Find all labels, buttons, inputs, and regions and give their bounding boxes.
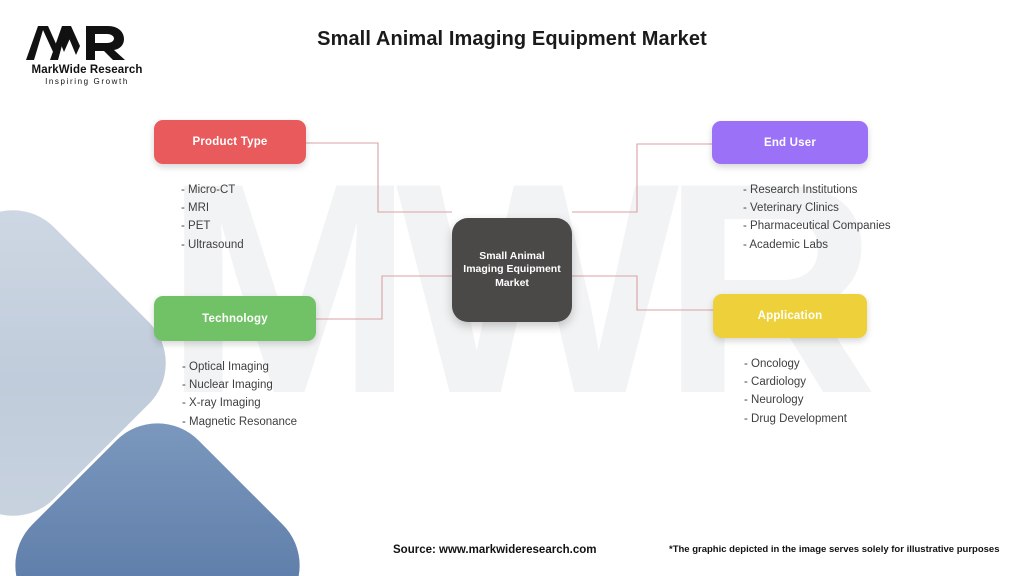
node-application-header[interactable]: Application (713, 294, 867, 338)
list-item: - MRI (181, 199, 306, 217)
list-item: - Nuclear Imaging (182, 376, 316, 394)
list-item: - Drug Development (744, 410, 867, 428)
node-application-label: Application (758, 310, 823, 322)
center-node-label: Small Animal Imaging Equipment Market (457, 250, 566, 291)
node-application[interactable]: Application - Oncology - Cardiology - Ne… (713, 294, 867, 428)
connector-application (572, 276, 713, 310)
center-node[interactable]: Small Animal Imaging Equipment Market (452, 218, 572, 322)
node-technology-label: Technology (202, 313, 268, 325)
footer-disclaimer: *The graphic depicted in the image serve… (669, 544, 1000, 555)
list-item: - Veterinary Clinics (743, 199, 891, 217)
node-product-type[interactable]: Product Type - Micro-CT - MRI - PET - Ul… (154, 120, 306, 254)
node-end-user-list: - Research Institutions - Veterinary Cli… (712, 181, 891, 254)
node-product-type-header[interactable]: Product Type (154, 120, 306, 164)
node-end-user[interactable]: End User - Research Institutions - Veter… (712, 121, 891, 254)
list-item: - Micro-CT (181, 181, 306, 199)
node-end-user-header[interactable]: End User (712, 121, 868, 164)
connector-product-type (306, 143, 452, 212)
list-item: - Pharmaceutical Companies (743, 217, 891, 235)
node-product-type-list: - Micro-CT - MRI - PET - Ultrasound (154, 181, 306, 254)
node-technology[interactable]: Technology - Optical Imaging - Nuclear I… (154, 296, 316, 431)
list-item: - Neurology (744, 391, 867, 409)
list-item: - Cardiology (744, 373, 867, 391)
node-product-type-label: Product Type (192, 136, 267, 148)
list-item: - Research Institutions (743, 181, 891, 199)
list-item: - Optical Imaging (182, 358, 316, 376)
list-item: - PET (181, 217, 306, 235)
list-item: - Academic Labs (743, 236, 891, 254)
list-item: - Magnetic Resonance (182, 413, 316, 431)
node-technology-list: - Optical Imaging - Nuclear Imaging - X-… (154, 358, 316, 431)
footer-source: Source: www.markwideresearch.com (393, 544, 596, 556)
connector-end-user (572, 144, 712, 212)
node-technology-header[interactable]: Technology (154, 296, 316, 341)
list-item: - Oncology (744, 355, 867, 373)
list-item: - X-ray Imaging (182, 394, 316, 412)
connector-technology (316, 276, 452, 319)
list-item: - Ultrasound (181, 236, 306, 254)
node-application-list: - Oncology - Cardiology - Neurology - Dr… (713, 355, 867, 428)
node-end-user-label: End User (764, 137, 816, 149)
